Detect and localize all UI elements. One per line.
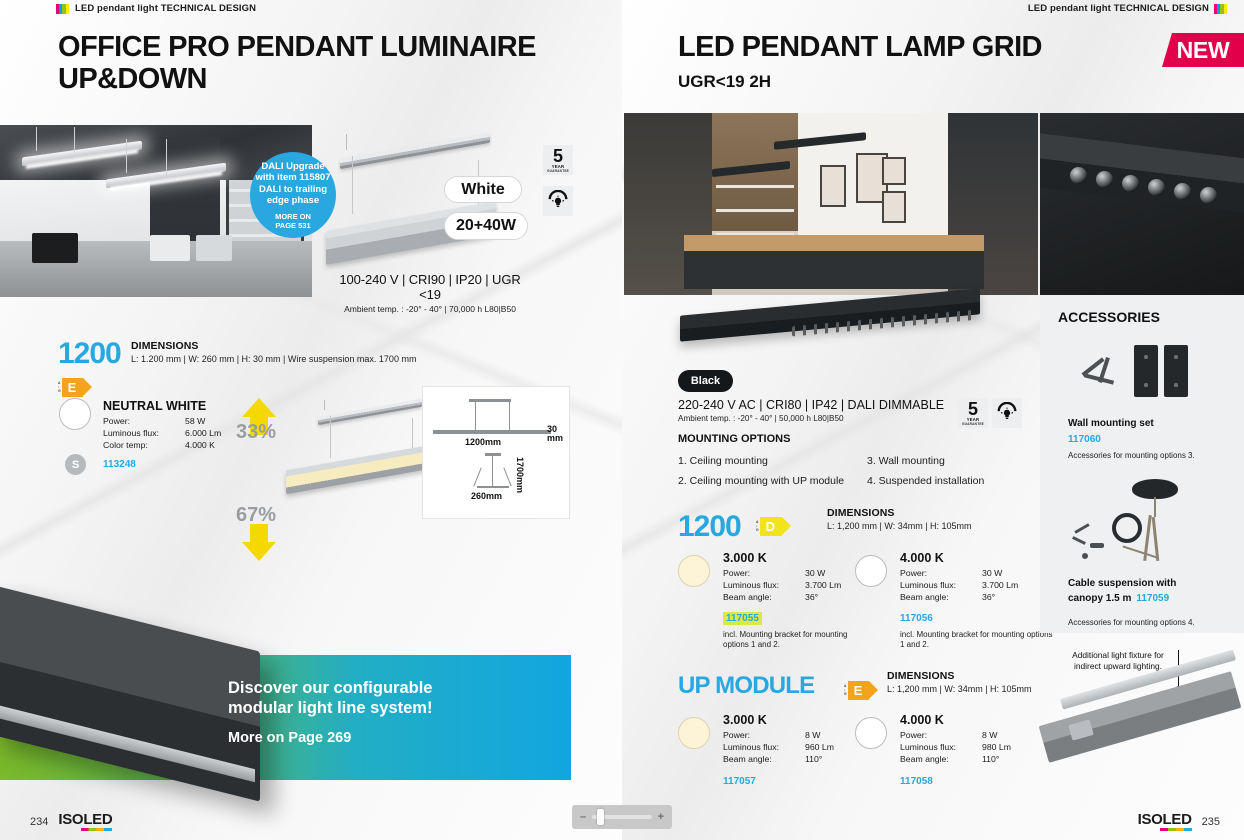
- row-value: 3.700 Lm: [805, 579, 841, 591]
- dimensions-value: L: 1,200 mm | W: 34mm | H: 105mm: [887, 684, 1032, 694]
- drawing-side-strut: [473, 468, 481, 487]
- promo-line-1: Discover our configurable: [228, 678, 432, 698]
- row-label: Power:: [900, 567, 982, 579]
- drawing-height-unit: mm: [547, 434, 563, 443]
- row-label: Power:: [723, 729, 805, 741]
- page-title-left: OFFICE PRO PENDANT LUMINAIRE UP&DOWN: [58, 31, 598, 95]
- table-row: Power: 8 W: [900, 729, 1011, 741]
- luminaire-panel-lit: [286, 446, 426, 495]
- accessories-panel: ACCESSORIES Wall mounting set 117060 Acc…: [1040, 295, 1244, 633]
- row-label: Luminous flux:: [103, 427, 185, 439]
- row-label: Luminous flux:: [723, 741, 805, 753]
- monitor: [32, 233, 78, 263]
- variant-note: incl. Mounting bracket for mounting opti…: [723, 630, 873, 650]
- row-value: 58 W: [185, 415, 221, 427]
- suspension-wire: [166, 139, 167, 176]
- row-value: 110°: [982, 753, 1011, 765]
- table-row: Power: 8 W: [723, 729, 834, 741]
- energy-label-letter: E: [848, 681, 870, 700]
- page-title-left-line2: UP&DOWN: [58, 63, 598, 95]
- row-value: 30 W: [982, 567, 1018, 579]
- color-pill: White: [444, 176, 522, 203]
- cmyk-bars-icon: [1214, 4, 1228, 14]
- brand-logo-right: ISOLED: [1138, 811, 1192, 828]
- table-row: Power: 58 W: [103, 415, 221, 427]
- accessory-2-name-line2: canopy 1.5 m: [1068, 592, 1131, 605]
- article-number-link[interactable]: 117055: [723, 612, 762, 625]
- pdf-viewer: LED pendant light TECHNICAL DESIGN OFFIC…: [0, 0, 1244, 840]
- power-pill-label: 20+40W: [456, 217, 516, 235]
- page-number-left: 234: [30, 816, 48, 828]
- drawing-side-fixture: [477, 486, 509, 488]
- table-row: Beam angle: 36°: [723, 591, 841, 603]
- guarantee-years: 5: [553, 147, 563, 165]
- accessory-2-desc: Accessories for mounting options 4.: [1068, 618, 1195, 627]
- drawing-length-label: 1200mm: [465, 437, 501, 447]
- table-row: Luminous flux: 960 Lm: [723, 741, 834, 753]
- drawing-suspension-label: 1700mm: [515, 457, 525, 493]
- spec-line-1: 220-240 V AC | CRI80 | IP42 | DALI DIMMA…: [678, 398, 944, 412]
- guarantee-years: 5: [968, 400, 978, 418]
- drawing-height-label: 30 mm: [547, 425, 563, 443]
- row-label: Power:: [103, 415, 185, 427]
- zoom-slider-track[interactable]: [592, 815, 651, 819]
- page-number-right: 235: [1202, 816, 1220, 828]
- color-swatch-3000k-up: [678, 717, 710, 749]
- energy-label-left: A ↕ G E: [58, 371, 83, 397]
- page-subtitle-right: UGR<19 2H: [678, 72, 771, 92]
- variant-block-left: NEUTRAL WHITE Power: 58 W Luminous flux:…: [103, 399, 221, 451]
- dali-badge-line4: edge phase: [267, 195, 319, 207]
- suspension-wire: [324, 400, 325, 410]
- hero-photo-office-right: [624, 113, 1038, 295]
- dimensions-value: L: 1.200 mm | W: 260 mm | H: 30 mm | Wir…: [131, 354, 416, 364]
- size-number-right: 1200: [678, 510, 741, 544]
- accessory-2-article-number[interactable]: 117059: [1136, 593, 1169, 604]
- zoom-in-button[interactable]: +: [658, 811, 664, 823]
- variant-name: 3.000 K: [723, 713, 834, 727]
- mounting-option-4: 4. Suspended installation: [867, 475, 984, 487]
- row-label: Beam angle:: [723, 753, 805, 765]
- footer-left: 234 ISOLED: [30, 811, 112, 828]
- suspension-wire: [330, 416, 331, 458]
- energy-label-main: A ↕ G D: [756, 510, 782, 536]
- suspension-wire: [126, 139, 127, 173]
- variant-block-3000k: 3.000 K Power: 30 W Luminous flux: 3.700…: [723, 551, 873, 650]
- variant-name: 4.000 K: [900, 713, 1011, 727]
- mounting-options-heading: MOUNTING OPTIONS: [678, 433, 790, 445]
- variant-note: incl. Mounting bracket for mounting opti…: [900, 630, 1055, 650]
- row-value: 960 Lm: [805, 741, 834, 753]
- energy-label-letter: D: [760, 517, 782, 536]
- product-render-lit: [300, 400, 430, 510]
- brand-logo-left: ISOLED: [58, 811, 112, 828]
- mounting-option-2: 2. Ceiling mounting with UP module: [678, 475, 844, 487]
- article-number-link[interactable]: 117057: [723, 776, 756, 787]
- energy-scale-bottom: G: [844, 692, 847, 696]
- up-light-percent: 33%: [236, 421, 276, 444]
- drawing-side-wire: [492, 456, 493, 486]
- wall-mounting-set-image: [1070, 343, 1210, 409]
- running-head-right: LED pendant light TECHNICAL DESIGN: [1028, 3, 1228, 14]
- accessory-2-name-line1: Cable suspension with: [1068, 577, 1176, 590]
- spec-lines-left: 100-240 V | CRI90 | IP20 | UGR <19 Ambie…: [330, 272, 530, 314]
- spec-line-2: Ambient temp. : -20° - 40° | 70,000 h L8…: [330, 304, 530, 314]
- energy-label-letter: E: [62, 378, 84, 397]
- promo-banner-product-image: [0, 618, 260, 768]
- s-badge-label: S: [72, 459, 79, 471]
- table-row: Beam angle: 110°: [900, 753, 1011, 765]
- table-row: Luminous flux: 3.700 Lm: [900, 579, 1018, 591]
- row-value: 8 W: [982, 729, 1011, 741]
- drawing-width-label: 260mm: [471, 491, 502, 501]
- monitor: [196, 235, 232, 261]
- variant-name: 4.000 K: [900, 551, 1055, 565]
- brand-iso: ISO: [58, 811, 83, 828]
- energy-scale: A ↕ G: [58, 378, 61, 397]
- accessory-1-name: Wall mounting set: [1068, 417, 1154, 430]
- variant-spec-table: Power: 58 W Luminous flux: 6.000 Lm Colo…: [103, 415, 221, 451]
- technical-drawing-box: 30 mm 1200mm 1700mm 260mm: [422, 386, 570, 519]
- accessory-1-desc: Accessories for mounting options 3.: [1068, 451, 1195, 460]
- footer-right: 235 ISOLED: [1138, 811, 1220, 828]
- promo-banner-text: Discover our configurable modular light …: [228, 678, 432, 746]
- running-head-left-text: LED pendant light TECHNICAL DESIGN: [75, 3, 256, 14]
- row-label: Beam angle:: [723, 591, 805, 603]
- brand-led: LED: [83, 811, 112, 828]
- row-label: Luminous flux:: [900, 579, 982, 591]
- dimensions-heading: DIMENSIONS: [887, 670, 1032, 682]
- variant-block-4000k: 4.000 K Power: 30 W Luminous flux: 3.700…: [900, 551, 1055, 650]
- drawing-wire: [509, 402, 510, 432]
- table-row: Luminous flux: 3.700 Lm: [723, 579, 841, 591]
- suspension-wire: [36, 127, 37, 151]
- drawing-side-strut: [503, 468, 511, 487]
- color-tag-label: Black: [691, 375, 720, 387]
- variant-spec-table: Power: 8 W Luminous flux: 980 Lm Beam an…: [900, 729, 1011, 765]
- catalog-page-left: LED pendant light TECHNICAL DESIGN OFFIC…: [0, 0, 622, 840]
- cable-suspension-image: [1068, 477, 1213, 569]
- mounting-option-3: 3. Wall mounting: [867, 455, 945, 467]
- zoom-out-button[interactable]: –: [580, 811, 586, 823]
- energy-scale: A ↕ G: [844, 681, 847, 700]
- row-label: Luminous flux:: [723, 579, 805, 591]
- dimensions-value: L: 1,200 mm | W: 34mm | H: 105mm: [827, 521, 972, 531]
- monitor: [150, 235, 190, 261]
- suspension-wire: [352, 156, 353, 214]
- drawing-wire: [475, 402, 476, 432]
- running-head-right-text: LED pendant light TECHNICAL DESIGN: [1028, 3, 1209, 14]
- row-label: Power:: [900, 729, 982, 741]
- drawing-fixture-front: [433, 430, 551, 434]
- variant-name: NEUTRAL WHITE: [103, 399, 221, 413]
- variant-block-3000k-up: 3.000 K Power: 8 W Luminous flux: 960 Lm…: [723, 713, 834, 789]
- variant-block-4000k-up: 4.000 K Power: 8 W Luminous flux: 980 Lm…: [900, 713, 1011, 789]
- dimensions-block-main: DIMENSIONS L: 1,200 mm | W: 34mm | H: 10…: [827, 507, 972, 531]
- dali-badge-more-line1: MORE ON: [275, 212, 311, 221]
- dali-badge-line3: DALI to trailing: [259, 184, 327, 196]
- energy-scale: A ↕ G: [756, 517, 759, 536]
- dali-badge-line1: DALI Upgrade: [261, 161, 324, 173]
- page-title-right: LED PENDANT LAMP GRID: [678, 31, 1078, 63]
- table-row: Beam angle: 110°: [723, 753, 834, 765]
- table-row: Beam angle: 36°: [900, 591, 1018, 603]
- table-row: Power: 30 W: [900, 567, 1018, 579]
- row-label: Beam angle:: [900, 591, 982, 603]
- new-badge: NEW: [1162, 33, 1244, 67]
- zoom-slider-thumb[interactable]: [597, 809, 604, 825]
- mounting-option-1: 1. Ceiling mounting: [678, 455, 768, 467]
- row-value: 4.000 K: [185, 439, 221, 451]
- energy-scale-bottom: G: [58, 389, 61, 393]
- row-label: Luminous flux:: [900, 741, 982, 753]
- energy-label-up-module: A ↕ G E: [844, 674, 869, 700]
- variant-spec-table: Power: 30 W Luminous flux: 3.700 Lm Beam…: [723, 567, 841, 603]
- page-title-left-line1: OFFICE PRO PENDANT LUMINAIRE: [58, 31, 598, 63]
- row-value: 6.000 Lm: [185, 427, 221, 439]
- table-row: Luminous flux: 980 Lm: [900, 741, 1011, 753]
- dimensions-block-up-module: DIMENSIONS L: 1,200 mm | W: 34mm | H: 10…: [887, 670, 1032, 694]
- accessories-heading: ACCESSORIES: [1058, 309, 1160, 325]
- running-head-left: LED pendant light TECHNICAL DESIGN: [56, 3, 256, 14]
- variant-spec-table: Power: 30 W Luminous flux: 3.700 Lm Beam…: [900, 567, 1018, 603]
- accessory-1-article-number[interactable]: 117060: [1068, 434, 1101, 445]
- variant-spec-table: Power: 8 W Luminous flux: 960 Lm Beam an…: [723, 729, 834, 765]
- color-swatch-4000k: [855, 555, 887, 587]
- hero-photo-closeup-black: [1040, 113, 1244, 295]
- indirect-light-icon: [543, 186, 573, 216]
- up-module-bar: [340, 133, 490, 169]
- color-swatch-3000k: [678, 555, 710, 587]
- guarantee-label-guarantee: GUARANTEE: [547, 170, 569, 173]
- article-number-link[interactable]: 117058: [900, 776, 933, 787]
- suspension-wire: [346, 134, 347, 150]
- row-label: Color temp:: [103, 439, 185, 451]
- up-module-bar: [318, 399, 422, 425]
- up-module-title: UP MODULE: [678, 672, 814, 700]
- catalog-page-right: LED pendant light TECHNICAL DESIGN LED P…: [622, 0, 1244, 840]
- row-value: 36°: [982, 591, 1018, 603]
- color-tag-black: Black: [678, 370, 733, 392]
- zoom-control[interactable]: – +: [572, 805, 672, 829]
- guarantee-5-year-icon: 5 YEAR GUARANTEE: [958, 398, 988, 428]
- bottom-product-image: [1040, 668, 1244, 818]
- dali-badge-more-line2: PAGE 531: [275, 221, 310, 230]
- color-swatch-4000k-up: [855, 717, 887, 749]
- promo-line-2: modular light line system!: [228, 698, 432, 718]
- callout-line-1: Additional light fixture for: [1056, 650, 1180, 661]
- article-number-link[interactable]: 113248: [103, 459, 136, 470]
- brand-iso: ISO: [1138, 811, 1163, 828]
- direct-light-icon: [992, 398, 1022, 428]
- guarantee-5-year-icon: 5 YEAR GUARANTEE: [543, 145, 573, 175]
- row-value: 36°: [805, 591, 841, 603]
- color-pill-label: White: [461, 181, 505, 199]
- variant-name: 3.000 K: [723, 551, 873, 565]
- table-row: Color temp: 4.000 K: [103, 439, 221, 451]
- table-row: Luminous flux: 6.000 Lm: [103, 427, 221, 439]
- row-value: 980 Lm: [982, 741, 1011, 753]
- power-pill: 20+40W: [444, 212, 528, 240]
- table-row: Power: 30 W: [723, 567, 841, 579]
- row-value: 8 W: [805, 729, 834, 741]
- row-value: 110°: [805, 753, 834, 765]
- spec-line-2: Ambient temp. : -20° - 40° | 50,000 h L8…: [678, 414, 944, 423]
- dimensions-heading: DIMENSIONS: [827, 507, 972, 519]
- energy-scale-bottom: G: [756, 528, 759, 532]
- row-value: 30 W: [805, 567, 841, 579]
- article-number-link[interactable]: 117056: [900, 613, 933, 624]
- color-swatch-neutral-white: [59, 398, 91, 430]
- row-label: Power:: [723, 567, 805, 579]
- row-label: Beam angle:: [900, 753, 982, 765]
- suspension-wire: [74, 127, 75, 153]
- size-number-left: 1200: [58, 337, 121, 371]
- guarantee-label-guarantee: GUARANTEE: [962, 423, 984, 426]
- cmyk-bars-icon: [56, 4, 70, 14]
- drawing-side-canopy: [485, 453, 501, 456]
- down-light-arrow-icon: [242, 524, 276, 561]
- product-render-right: [680, 288, 996, 378]
- spec-line-1: 100-240 V | CRI90 | IP20 | UGR <19: [330, 272, 530, 302]
- spec-lines-right: 220-240 V AC | CRI80 | IP42 | DALI DIMMA…: [678, 398, 944, 423]
- row-value: 3.700 Lm: [982, 579, 1018, 591]
- promo-cta[interactable]: More on Page 269: [228, 730, 432, 746]
- dimensions-heading: DIMENSIONS: [131, 340, 416, 352]
- brand-led: LED: [1163, 811, 1192, 828]
- dimensions-block-left: DIMENSIONS L: 1.200 mm | W: 260 mm | H: …: [131, 340, 416, 364]
- s-badge-icon: S: [65, 454, 86, 475]
